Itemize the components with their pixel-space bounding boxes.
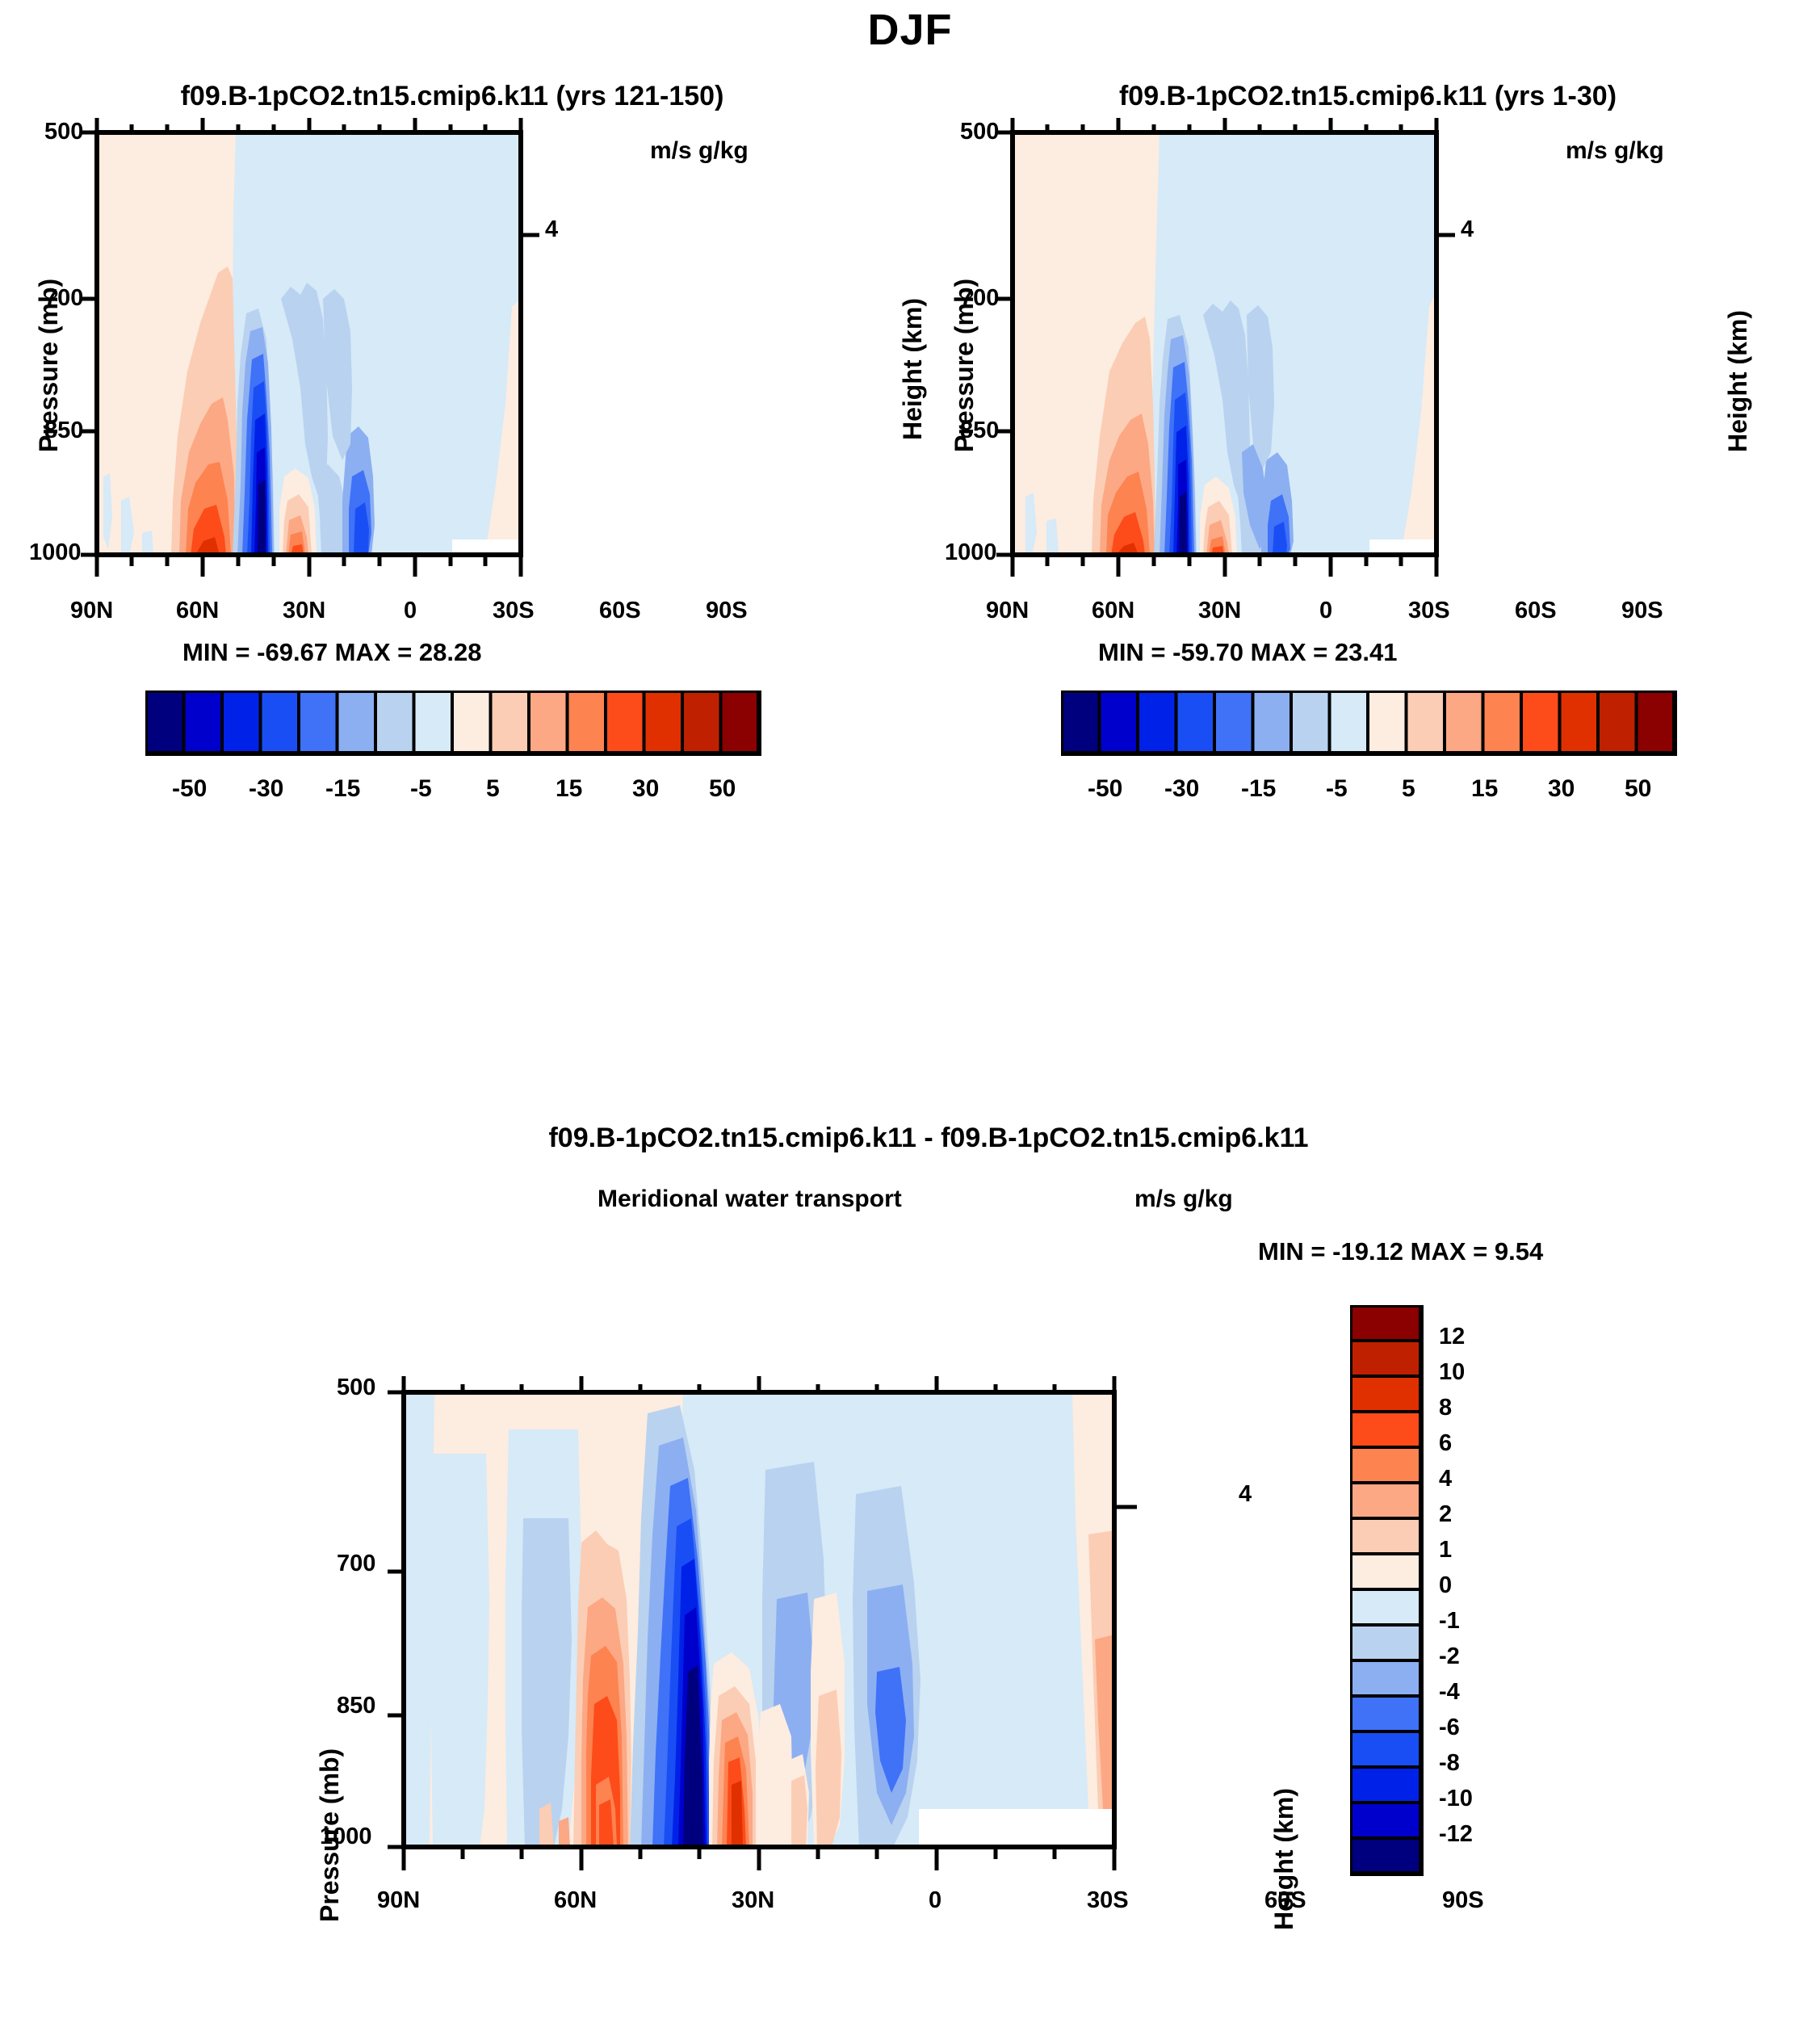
figure-root: DJF f09.B-1pCO2.tn15.cmip6.k11 (yrs 121-… <box>0 0 1820 1952</box>
panel3-xtick-0: 0 <box>929 1887 941 1914</box>
panel3-cb-label-0: 0 <box>1439 1572 1452 1599</box>
panel1-cb-label--30: -30 <box>249 775 283 803</box>
panel2-cb-label--5: -5 <box>1326 775 1348 803</box>
panel2-cb-label-15: 15 <box>1471 775 1498 803</box>
colorbar-swatch <box>1350 1341 1421 1376</box>
figure-suptitle: DJF <box>0 5 1820 55</box>
panel3-xtick-90N: 90N <box>377 1887 420 1914</box>
panel1-xtick-30N: 30N <box>283 598 325 624</box>
colorbar-swatch <box>261 690 300 753</box>
panel3-xtick-30S: 30S <box>1087 1887 1129 1914</box>
panel2-xtick-0: 0 <box>1319 598 1332 624</box>
colorbar-swatch <box>414 690 453 753</box>
panel3-plot <box>388 1357 1292 2019</box>
colorbar-swatch <box>1598 690 1637 753</box>
colorbar-swatch <box>1214 690 1253 753</box>
colorbar-swatch <box>184 690 223 753</box>
panel3-xtick-30N: 30N <box>732 1887 774 1914</box>
panel3-ytick-850: 850 <box>337 1693 375 1719</box>
panel1-cb-label-5: 5 <box>486 775 500 803</box>
panel1-xtick-30S: 30S <box>493 598 535 624</box>
panel3-cb-label-neg10: -10 <box>1439 1786 1473 1812</box>
panel2-minmax: MIN = -59.70 MAX = 23.41 <box>1098 638 1397 667</box>
colorbar-swatch <box>1350 1731 1421 1767</box>
panel1-cb-label-50: 50 <box>709 775 736 803</box>
panel2-cb-label-30: 30 <box>1548 775 1575 803</box>
panel3-minmax: MIN = -19.12 MAX = 9.54 <box>1258 1237 1543 1266</box>
panel3-cb-label-8: 8 <box>1439 1395 1452 1421</box>
panel3-subheader-variable: Meridional water transport <box>598 1186 902 1213</box>
colorbar-swatch <box>1560 690 1599 753</box>
colorbar-swatch <box>1100 690 1139 753</box>
panel1-cb-label--5: -5 <box>410 775 432 803</box>
colorbar-swatch <box>1350 1518 1421 1554</box>
colorbar-swatch <box>1330 690 1369 753</box>
colorbar-swatch <box>1350 1412 1421 1447</box>
colorbar-swatch <box>568 690 606 753</box>
colorbar-swatch <box>1350 1447 1421 1483</box>
panel3-ytick-500: 500 <box>337 1375 375 1401</box>
panel3-cb-label-neg1: -1 <box>1439 1608 1460 1635</box>
panel3-cb-label-10: 10 <box>1439 1359 1465 1386</box>
panel1-cb-label-30: 30 <box>632 775 659 803</box>
colorbar-swatch <box>1350 1838 1421 1874</box>
panel3-ytick-1000: 1000 <box>320 1824 372 1850</box>
panel3-xtick-60S: 60S <box>1264 1887 1306 1914</box>
panel2-xtick-30N: 30N <box>1198 598 1241 624</box>
colorbar-swatch <box>1138 690 1176 753</box>
panel3-cb-label-4: 4 <box>1439 1466 1452 1492</box>
colorbar-swatch <box>606 690 644 753</box>
panel3-xtick-60N: 60N <box>554 1887 597 1914</box>
panel2-cb-label--30: -30 <box>1164 775 1199 803</box>
colorbar-swatch <box>529 690 568 753</box>
panel3-cb-label-12: 12 <box>1439 1324 1465 1350</box>
panel3-cb-label-2: 2 <box>1439 1501 1452 1528</box>
panel3-cb-label-neg8: -8 <box>1439 1750 1460 1777</box>
panel1-xtick-60S: 60S <box>599 598 641 624</box>
colorbar-swatch <box>145 690 184 753</box>
panel3-cb-label-neg12: -12 <box>1439 1821 1473 1848</box>
panel2-xtick-90N: 90N <box>986 598 1029 624</box>
panel2-cb-label-5: 5 <box>1402 775 1415 803</box>
colorbar-swatch <box>1368 690 1407 753</box>
colorbar-swatch <box>1407 690 1445 753</box>
panel1-cb-label--50: -50 <box>172 775 207 803</box>
colorbar-swatch <box>1521 690 1560 753</box>
panel2-xtick-60S: 60S <box>1515 598 1557 624</box>
colorbar-swatch <box>1350 1305 1421 1341</box>
panel3-cb-label-6: 6 <box>1439 1430 1452 1457</box>
panel1-cb-label--15: -15 <box>325 775 360 803</box>
panel3-subheader-units: m/s g/kg <box>1134 1186 1233 1213</box>
colorbar-swatch <box>1350 1625 1421 1660</box>
colorbar-swatch <box>1483 690 1522 753</box>
panel3-ytick-700: 700 <box>337 1551 375 1577</box>
panel1-plot <box>0 97 816 662</box>
colorbar-swatch <box>1350 1696 1421 1731</box>
colorbar-swatch <box>375 690 414 753</box>
colorbar-swatch <box>1253 690 1292 753</box>
colorbar-swatch <box>1350 1660 1421 1696</box>
colorbar-swatch <box>299 690 338 753</box>
colorbar-swatch <box>682 690 721 753</box>
colorbar-swatch <box>1637 690 1675 753</box>
colorbar-swatch <box>721 690 760 753</box>
panel3-cb-label-neg6: -6 <box>1439 1715 1460 1741</box>
colorbar-swatch <box>1176 690 1215 753</box>
colorbar-swatch <box>1291 690 1330 753</box>
colorbar-swatch <box>1350 1483 1421 1518</box>
colorbar-swatch <box>1061 690 1100 753</box>
panel2-colorbar <box>1061 690 1707 795</box>
panel3-cb-label-neg2: -2 <box>1439 1643 1460 1670</box>
panel3-cb-label-neg4: -4 <box>1439 1679 1460 1706</box>
panel2-xtick-30S: 30S <box>1408 598 1450 624</box>
panel2-cb-label--15: -15 <box>1241 775 1276 803</box>
panel1-colorbar <box>145 690 791 795</box>
colorbar-swatch <box>644 690 683 753</box>
colorbar-swatch <box>1350 1589 1421 1625</box>
panel3-cb-label-1: 1 <box>1439 1537 1452 1564</box>
colorbar-swatch <box>1350 1803 1421 1838</box>
panel1-xtick-0: 0 <box>404 598 417 624</box>
panel2-xtick-60N: 60N <box>1092 598 1134 624</box>
panel1-minmax: MIN = -69.67 MAX = 28.28 <box>182 638 481 667</box>
panel3-title: f09.B-1pCO2.tn15.cmip6.k11 - f09.B-1pCO2… <box>388 1123 1470 1154</box>
colorbar-swatch <box>1350 1767 1421 1803</box>
panel2-xtick-90S: 90S <box>1621 598 1663 624</box>
colorbar-swatch <box>491 690 530 753</box>
colorbar-swatch <box>1445 690 1483 753</box>
panel1-xtick-60N: 60N <box>176 598 219 624</box>
panel2-cb-label-50: 50 <box>1625 775 1651 803</box>
colorbar-swatch <box>1350 1376 1421 1412</box>
colorbar-swatch <box>1350 1554 1421 1589</box>
panel1-xtick-90N: 90N <box>70 598 113 624</box>
panel1-xtick-90S: 90S <box>706 598 748 624</box>
panel1-cb-label-15: 15 <box>556 775 582 803</box>
colorbar-swatch <box>222 690 261 753</box>
colorbar-swatch <box>452 690 491 753</box>
panel2-cb-label--50: -50 <box>1088 775 1122 803</box>
colorbar-swatch <box>338 690 376 753</box>
panel2-plot <box>916 97 1731 662</box>
